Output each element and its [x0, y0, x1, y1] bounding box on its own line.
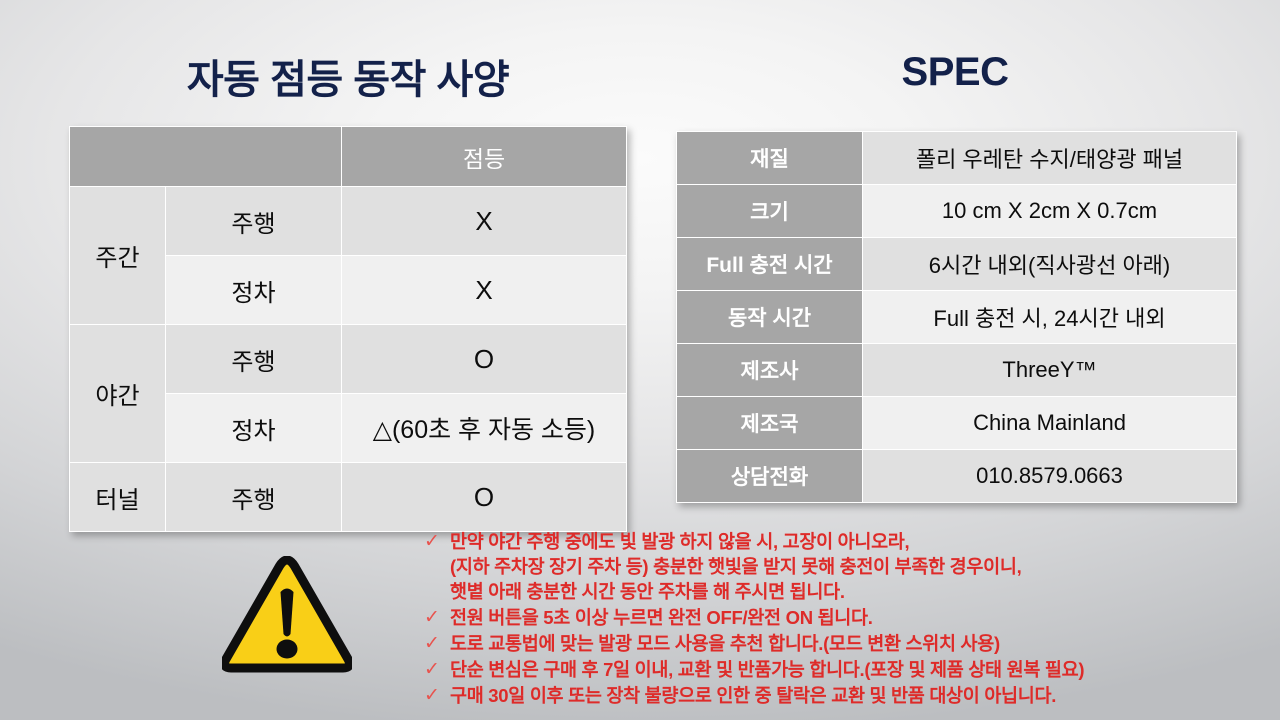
spec-value-full-charge-time: 6시간 내외(직사광선 아래)	[863, 238, 1237, 291]
list-item: ✓ 단순 변심은 구매 후 7일 이내, 교환 및 반품가능 합니다.(포장 및…	[424, 657, 1254, 682]
table-row: Full 충전 시간 6시간 내외(직사광선 아래)	[677, 238, 1237, 291]
table-row: 야간 주행 O	[70, 325, 627, 394]
notice-text: 만약 야간 주행 중에도 빛 발광 하지 않을 시, 고장이 아니오라, (지하…	[450, 529, 1021, 604]
category-cell-daytime: 주간	[70, 187, 166, 325]
table-header-row: 점등	[70, 127, 627, 187]
list-item: ✓ 도로 교통법에 맞는 발광 모드 사용을 추천 합니다.(모드 변환 스위치…	[424, 631, 1254, 656]
mode-cell: 정차	[166, 394, 342, 463]
list-item: ✓ 만약 야간 주행 중에도 빛 발광 하지 않을 시, 고장이 아니오라, (…	[424, 529, 1254, 604]
table-row: 크기 10 cm X 2cm X 0.7cm	[677, 185, 1237, 238]
value-cell: X	[342, 256, 627, 325]
table-row: 제조사 ThreeY™	[677, 344, 1237, 397]
category-cell-tunnel: 터널	[70, 463, 166, 532]
table-row: 제조국 China Mainland	[677, 397, 1237, 450]
table-row: 터널 주행 O	[70, 463, 627, 532]
spec-value-size: 10 cm X 2cm X 0.7cm	[863, 185, 1237, 238]
table-row: 상담전화 010.8579.0663	[677, 450, 1237, 503]
table-row: 재질 폴리 우레탄 수지/태양광 패널	[677, 132, 1237, 185]
notice-text: 도로 교통법에 맞는 발광 모드 사용을 추천 합니다.(모드 변환 스위치 사…	[450, 631, 1000, 656]
column-header-blank	[70, 127, 342, 187]
check-icon: ✓	[424, 529, 450, 554]
value-cell: O	[342, 463, 627, 532]
spec-value-country: China Mainland	[863, 397, 1237, 450]
value-cell: △(60초 후 자동 소등)	[342, 394, 627, 463]
mode-cell: 주행	[166, 463, 342, 532]
check-icon: ✓	[424, 683, 450, 708]
mode-cell: 주행	[166, 325, 342, 394]
spec-value-material: 폴리 우레탄 수지/태양광 패널	[863, 132, 1237, 185]
spec-value-phone: 010.8579.0663	[863, 450, 1237, 503]
table-row: 주간 주행 X	[70, 187, 627, 256]
spec-value-operating-time: Full 충전 시, 24시간 내외	[863, 291, 1237, 344]
spec-key-size: 크기	[677, 185, 863, 238]
warning-triangle-icon	[222, 556, 352, 674]
value-cell: X	[342, 187, 627, 256]
spec-key-material: 재질	[677, 132, 863, 185]
check-icon: ✓	[424, 605, 450, 630]
column-header-lighting: 점등	[342, 127, 627, 187]
operation-spec-table: 점등 주간 주행 X 정차 X 야간 주행 O 정차 △(60초 후 자동 소등…	[69, 126, 627, 532]
list-item: ✓ 전원 버튼을 5초 이상 누르면 완전 OFF/완전 ON 됩니다.	[424, 605, 1254, 630]
spec-key-operating-time: 동작 시간	[677, 291, 863, 344]
notice-text: 구매 30일 이후 또는 장착 불량으로 인한 중 탈락은 교환 및 반품 대상…	[450, 683, 1056, 708]
spec-key-full-charge-time: Full 충전 시간	[677, 238, 863, 291]
list-item: ✓ 구매 30일 이후 또는 장착 불량으로 인한 중 탈락은 교환 및 반품 …	[424, 683, 1254, 708]
notice-text: 단순 변심은 구매 후 7일 이내, 교환 및 반품가능 합니다.(포장 및 제…	[450, 657, 1084, 682]
mode-cell: 주행	[166, 187, 342, 256]
category-cell-nighttime: 야간	[70, 325, 166, 463]
notice-list: ✓ 만약 야간 주행 중에도 빛 발광 하지 않을 시, 고장이 아니오라, (…	[424, 529, 1254, 709]
spec-key-manufacturer: 제조사	[677, 344, 863, 397]
spec-value-manufacturer: ThreeY™	[863, 344, 1237, 397]
notice-text: 전원 버튼을 5초 이상 누르면 완전 OFF/완전 ON 됩니다.	[450, 605, 873, 630]
table-row: 동작 시간 Full 충전 시, 24시간 내외	[677, 291, 1237, 344]
mode-cell: 정차	[166, 256, 342, 325]
spec-key-country: 제조국	[677, 397, 863, 450]
spec-key-phone: 상담전화	[677, 450, 863, 503]
check-icon: ✓	[424, 631, 450, 656]
check-icon: ✓	[424, 657, 450, 682]
value-cell: O	[342, 325, 627, 394]
page-title-spec: SPEC	[670, 50, 1240, 95]
page-title-operation-spec: 자동 점등 동작 사양	[68, 47, 628, 105]
product-spec-table: 재질 폴리 우레탄 수지/태양광 패널 크기 10 cm X 2cm X 0.7…	[676, 131, 1237, 503]
